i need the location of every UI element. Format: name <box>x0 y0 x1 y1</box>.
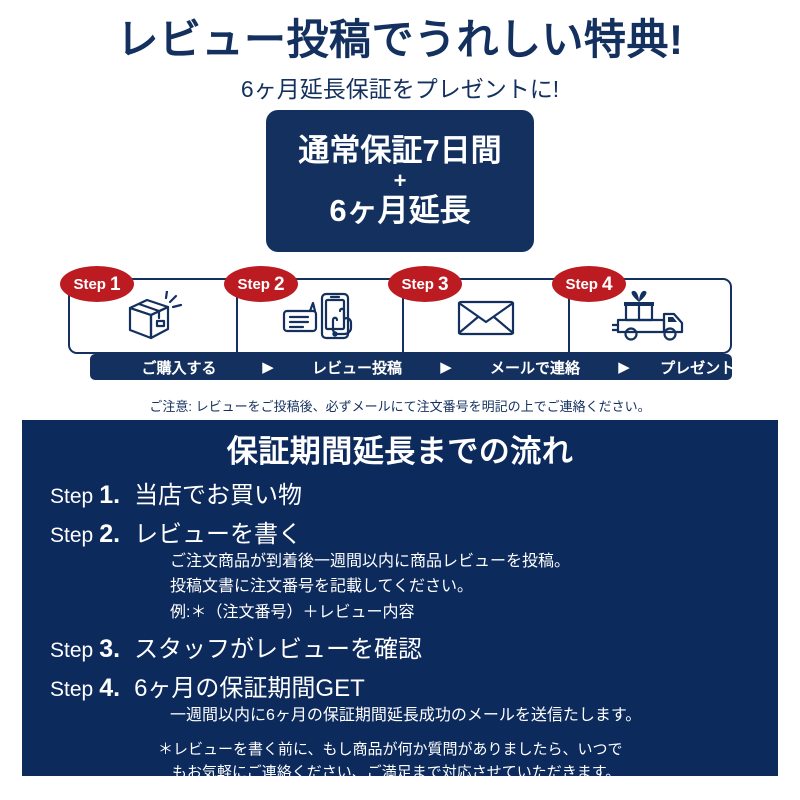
panel-step-1: Step 1. 当店でお買い物 <box>22 475 778 510</box>
panel-title: 保証期間延長までの流れ <box>22 420 778 471</box>
step-badge-word: Step <box>237 277 270 292</box>
step-badge-word: Step <box>73 277 106 292</box>
panel-step-word: Step <box>50 678 93 702</box>
step-badge-number: 4 <box>602 275 613 294</box>
step-badge-word: Step <box>565 277 598 292</box>
panel-step-word: Step <box>50 639 93 663</box>
panel-step-2-detail: 例:＊（注文番号）＋レビュー内容 <box>22 600 778 625</box>
page-subtitle: 6ヶ月延長保証をプレゼントに! <box>0 70 800 104</box>
step-badge-word: Step <box>401 277 434 292</box>
panel-step-2-detail: 投稿文書に注文番号を記載してください。 <box>22 574 778 599</box>
flow-label-step-1: ご購入する <box>104 357 254 378</box>
page-title: レビュー投稿でうれしい特典! <box>0 6 800 67</box>
step-badge-number: 1 <box>110 275 121 294</box>
panel-step-3: Step 3. スタッフがレビューを確認 <box>22 629 778 664</box>
panel-footnote-line-2: もお気軽にご連絡ください、ご満足まで対応させていただきます。 <box>22 761 778 784</box>
panel-step-2: Step 2. レビューを書く <box>22 514 778 549</box>
phone-review-icon <box>282 291 358 341</box>
flow-arrow-icon: ▶ <box>254 360 282 375</box>
panel-step-text: 当店でお買い物 <box>134 475 302 510</box>
panel-step-4-detail: 一週間以内に6ヶ月の保証期間延長成功のメールを送信たします。 <box>22 703 778 728</box>
envelope-icon <box>455 294 517 339</box>
panel-step-number: 2. <box>99 520 120 549</box>
step-badge-1: Step 1 <box>60 266 134 302</box>
panel-step-text: スタッフがレビューを確認 <box>134 629 422 664</box>
package-box-icon <box>122 291 184 341</box>
guarantee-extension-term: 6ヶ月延長 <box>329 195 470 228</box>
panel-step-text: 6ヶ月の保証期間GET <box>134 668 365 703</box>
step-badge-4: Step 4 <box>552 266 626 302</box>
flow-label-step-2: レビュー投稿 <box>282 357 432 378</box>
panel-step-number: 3. <box>99 635 120 664</box>
panel-step-word: Step <box>50 485 93 509</box>
procedure-panel: 保証期間延長までの流れ Step 1. 当店でお買い物 Step 2. レビュー… <box>22 420 778 776</box>
step-label-bar: ご購入する ▶ レビュー投稿 ▶ メールで連絡 ▶ プレゼントGET <box>90 354 732 380</box>
caution-note: ご注意: レビューをご投稿後、必ずメールにて注文番号を明記の上でご連絡ください。 <box>0 396 800 415</box>
panel-step-2-detail: ご注文商品が到着後一週間以内に商品レビューを投稿。 <box>22 549 778 574</box>
panel-step-4: Step 4. 6ヶ月の保証期間GET <box>22 668 778 703</box>
panel-step-number: 1. <box>99 481 120 510</box>
guarantee-plus-sign: + <box>394 168 407 193</box>
panel-step-number: 4. <box>99 674 120 703</box>
flow-label-step-4: プレゼントGET <box>638 357 788 378</box>
guarantee-box: 通常保証7日間 + 6ヶ月延長 <box>266 110 534 252</box>
flow-arrow-icon: ▶ <box>610 360 638 375</box>
panel-step-word: Step <box>50 524 93 548</box>
step-badge-2: Step 2 <box>224 266 298 302</box>
promotional-banner: レビュー投稿でうれしい特典! 6ヶ月延長保証をプレゼントに! 通常保証7日間 +… <box>0 0 800 800</box>
guarantee-base-term: 通常保証7日間 <box>298 135 501 168</box>
flow-arrow-icon: ▶ <box>432 360 460 375</box>
gift-truck-icon <box>612 290 692 342</box>
panel-footnote-line-1: ＊レビューを書く前に、もし商品が何か質問がありましたら、いつで <box>22 738 778 761</box>
panel-step-text: レビューを書く <box>134 514 302 549</box>
step-badge-3: Step 3 <box>388 266 462 302</box>
flow-label-step-3: メールで連絡 <box>460 357 610 378</box>
step-badge-number: 3 <box>438 275 449 294</box>
step-badge-number: 2 <box>274 275 285 294</box>
